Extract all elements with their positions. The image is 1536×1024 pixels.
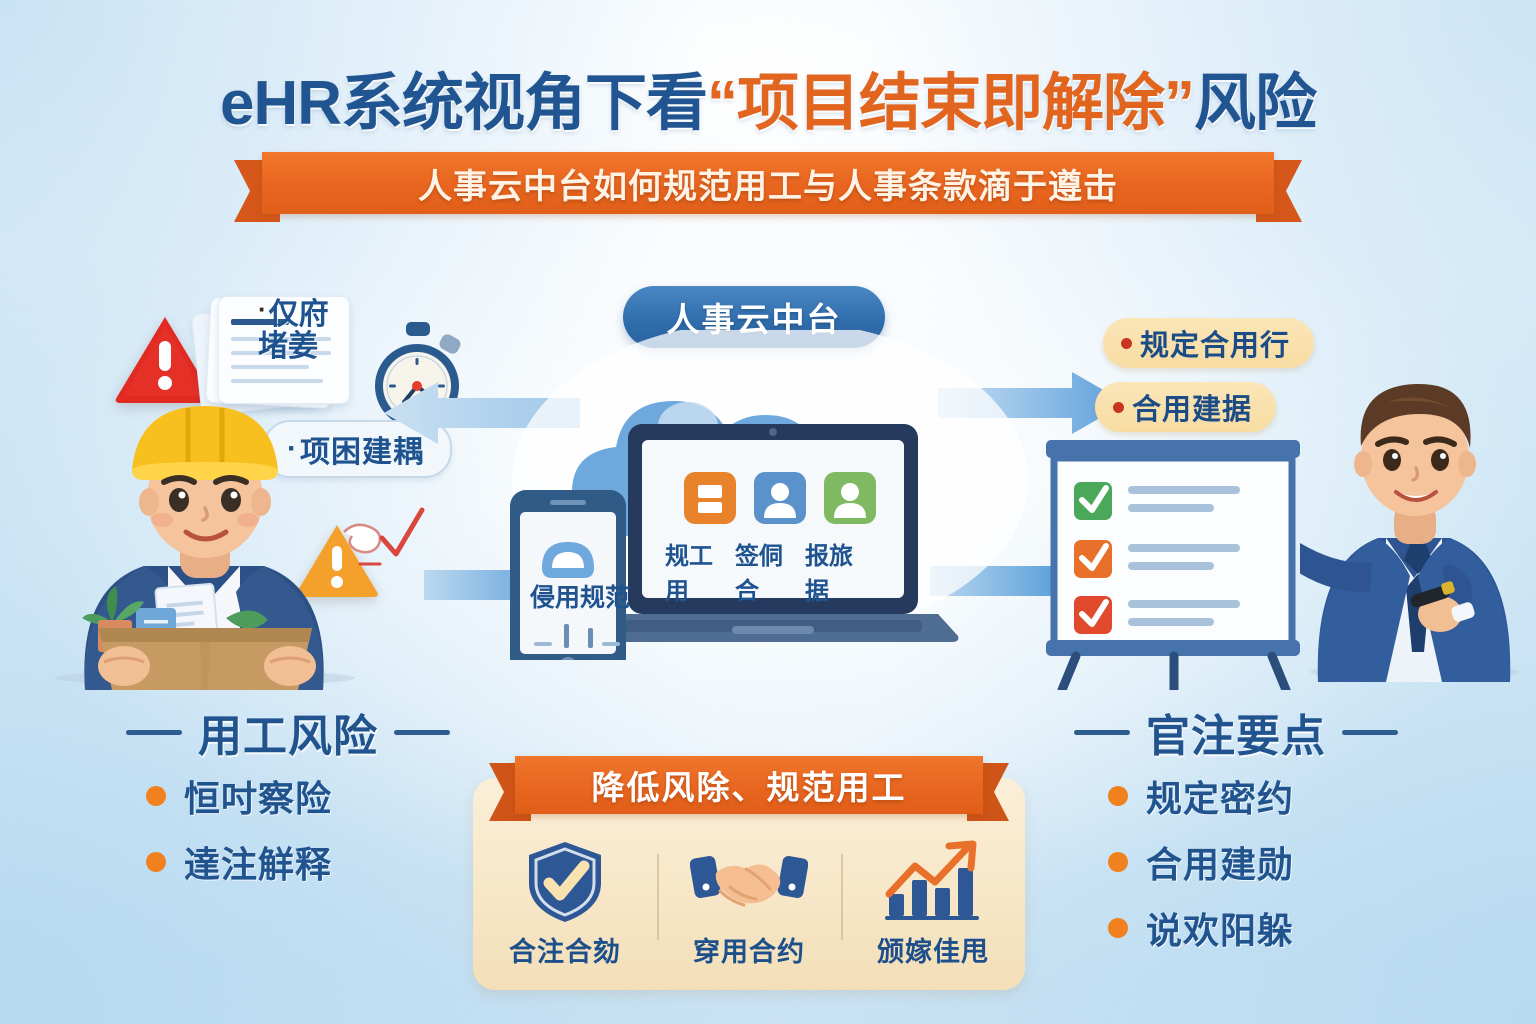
app-label-2: 签侗合 [735,536,805,606]
title-part-3: 风险 [1194,69,1316,138]
businessman-illustration [1300,352,1530,687]
title-part-2: 项目结束即解除 [737,69,1164,138]
right-pill-1: 规定合用行 [1103,318,1314,368]
right-pill-2: 合用建据 [1095,382,1276,432]
title-quote-open: “ [707,69,737,138]
right-bullet-2: 合用建勋 [1146,836,1294,888]
left-bullet-1: 恒吋察险 [184,770,332,822]
bottom-feature-items: 合注合劾 穿用合约 [473,840,1025,990]
subtitle-ribbon: 人事云中台如何规范用工与人事条款滴于遵击 [236,152,1300,214]
worker-illustration [40,390,370,695]
right-heading-text: 官注要点 [1146,700,1326,764]
feature-item-compliance: 合注合劾 [473,840,657,990]
bottom-ribbon: 降低风除、规范用工 [493,756,1005,814]
bottom-ribbon-band: 降低风除、规范用工 [515,756,983,814]
page-title: eHR系统视角下看“项目结束即解除”风险 [0,52,1536,142]
phone-label: 侵用规范 [524,578,636,614]
left-column-heading: 用工风险 [126,700,450,764]
heading-rule-left [1074,730,1130,735]
heading-rule-right [1342,730,1398,735]
list-item: 合用建勋 [1108,836,1294,888]
right-pill-2-text: 合用建据 [1132,386,1252,428]
cloud-platform-illustration [500,330,1040,665]
left-bullet-list: 恒吋察险 達注觧释 [146,770,332,902]
subtitle-text: 人事云中台如何规范用工与人事条款滴于遵击 [418,159,1118,208]
left-heading-text: 用工风险 [198,700,378,764]
bullet-dot-icon [146,852,166,872]
whiteboard-checklist [1040,440,1310,695]
bullet-dot-icon [1108,786,1128,806]
right-bullet-1: 规定密约 [1146,770,1294,822]
bullet-dot-icon [146,786,166,806]
right-pill-1-text: 规定合用行 [1140,322,1290,364]
laptop-app-labels: 规工用 签侗合 报旅据 [665,536,875,606]
bar-chart-up-icon [883,840,983,924]
list-item: 恒吋察险 [146,770,332,822]
left-bullet-2: 達注觧释 [184,836,332,888]
app-label-1: 规工用 [665,536,735,606]
feature-item-contract: 穿用合约 [657,840,841,990]
bullet-dot-icon [1108,852,1128,872]
pill-dot-icon [1113,402,1124,413]
handshake-icon [690,840,808,924]
doc-label-line-2: 堵姜 [258,330,318,363]
ribbon-band: 人事云中台如何规范用工与人事条款滴于遵击 [262,152,1274,214]
list-item: 说欢阳躲 [1108,902,1294,954]
pill-dot-icon [1121,338,1132,349]
bullet-dot-icon [1108,918,1128,938]
list-item: 规定密约 [1108,770,1294,822]
right-bullet-3: 说欢阳躲 [1146,902,1294,954]
title-quote-close: ” [1164,69,1194,138]
list-item: 達注觧释 [146,836,332,888]
heading-rule-left [126,730,182,735]
feature-item-growth: 颁嫁佳甩 [841,840,1025,990]
feature-label-1: 合注合劾 [509,930,621,969]
heading-rule-right [394,730,450,735]
feature-label-3: 颁嫁佳甩 [877,930,989,969]
shield-check-icon [522,840,608,924]
app-label-3: 报旅据 [805,536,875,606]
laptop-icon [589,424,959,642]
feature-label-2: 穿用合约 [693,930,805,969]
phone-chart-bars-icon [530,618,630,652]
right-column-heading: 官注要点 [1074,700,1398,764]
infographic-canvas: eHR系统视角下看“项目结束即解除”风险 人事云中台如何规范用工与人事条款滴于遵… [0,0,1536,1024]
doc-label-line-1: 仅府 [269,298,329,331]
document-label: ·仅府 堵姜 [258,296,378,362]
title-part-1: eHR系统视角下看 [220,69,707,138]
bottom-ribbon-label: 降低风除、规范用工 [592,761,907,809]
right-bullet-list: 规定密约 合用建勋 说欢阳躲 [1108,770,1294,968]
